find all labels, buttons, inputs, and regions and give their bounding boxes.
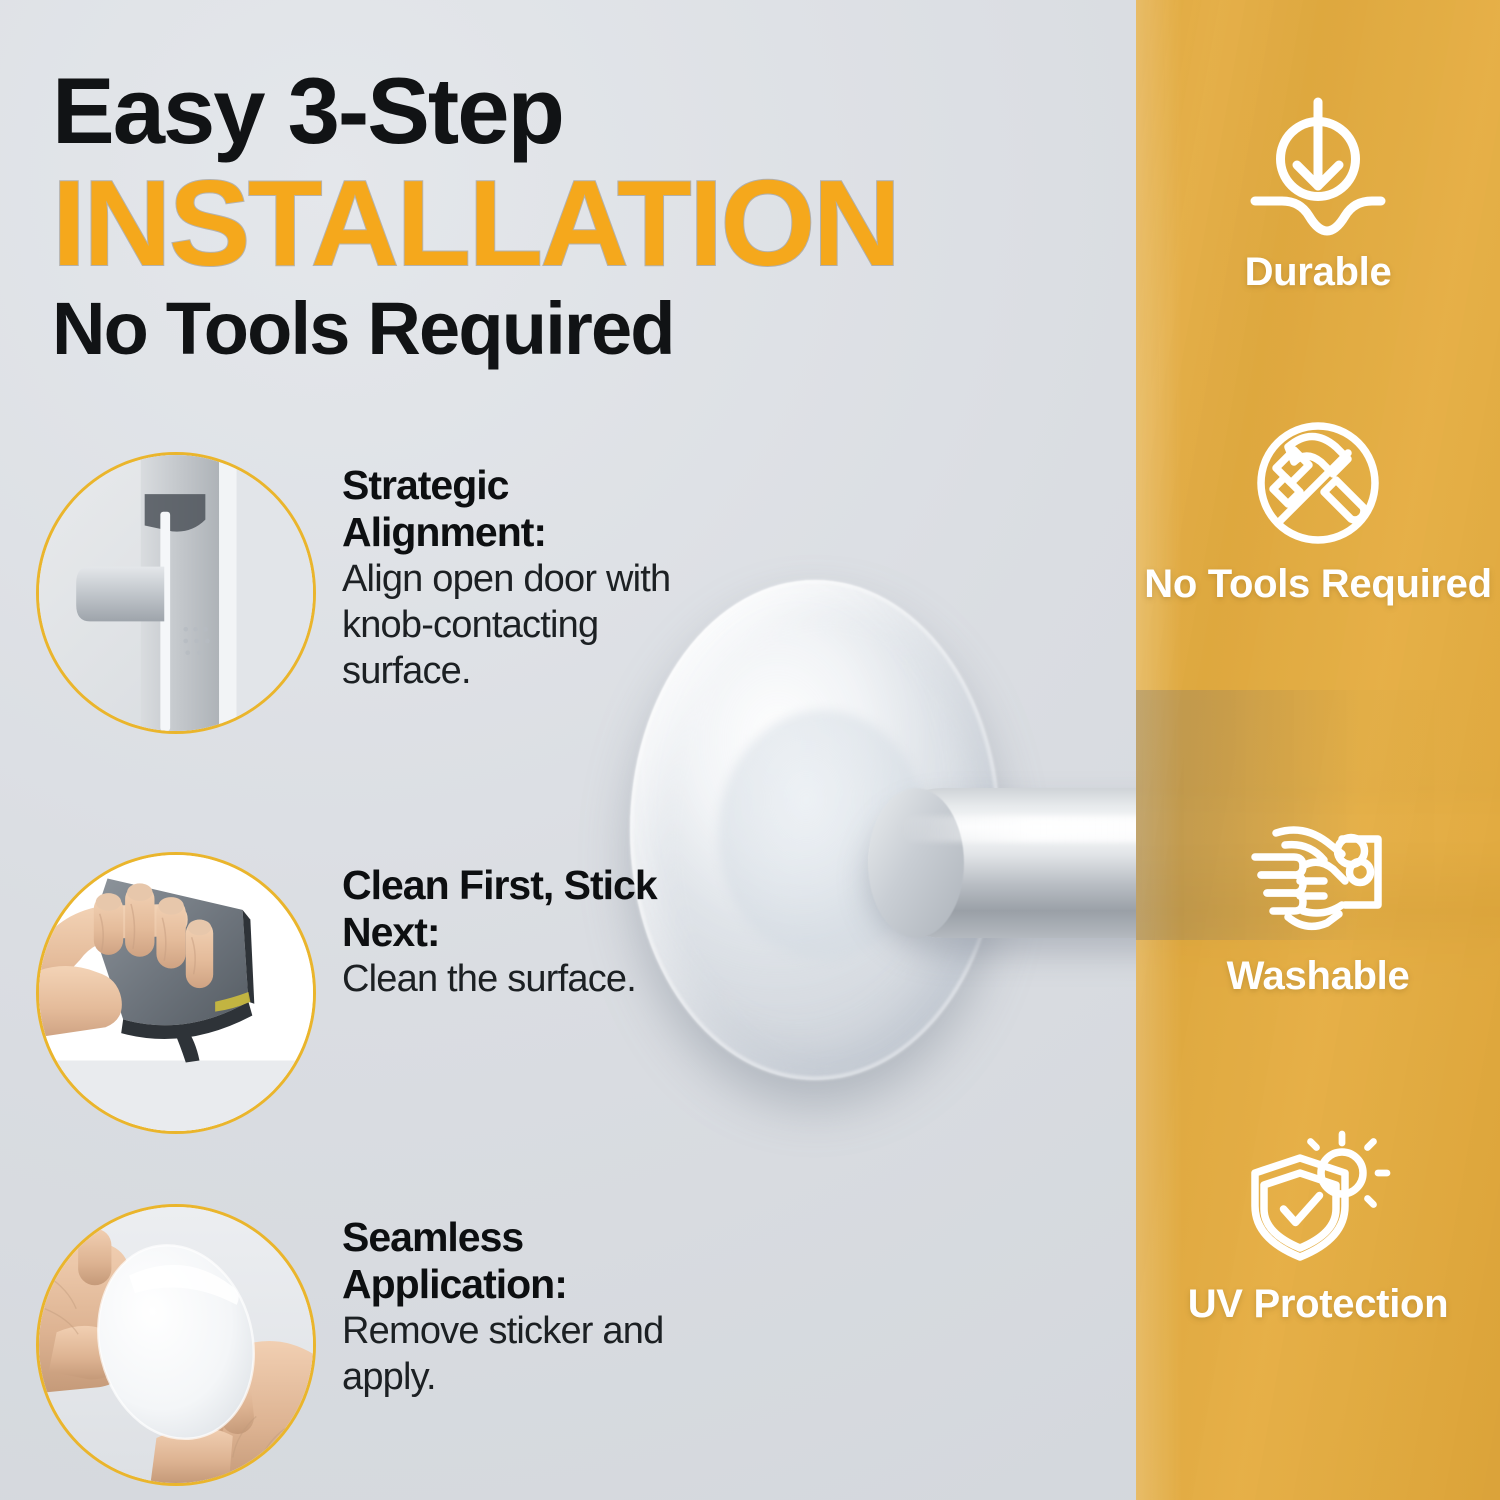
step-2-thumbnail	[36, 852, 316, 1134]
feature-benefits-panel: Durable No Tools Required	[1136, 0, 1500, 1500]
infographic-canvas: Easy 3-Step INSTALLATION No Tools Requir…	[0, 0, 1500, 1500]
feature-no-tools-label: No Tools Required	[1144, 562, 1492, 606]
install-step-2: Clean First, Stick Next: Clean the surfa…	[36, 852, 716, 1134]
feature-durable: Durable	[1136, 96, 1500, 294]
step-1-title: Strategic Alignment:	[342, 462, 702, 555]
feature-uv-protection-label: UV Protection	[1188, 1282, 1449, 1326]
shield-check-sun-icon	[1243, 1128, 1393, 1278]
step-3-thumbnail	[36, 1204, 316, 1486]
step-1-text: Strategic Alignment: Align open door wit…	[342, 452, 702, 734]
door-handle-end-cap	[868, 788, 964, 938]
headline-line-3: No Tools Required	[52, 290, 1092, 368]
door-handle-alignment-photo	[39, 455, 313, 731]
install-step-1: Strategic Alignment: Align open door wit…	[36, 452, 716, 734]
feature-no-tools: No Tools Required	[1136, 408, 1500, 606]
headline-line-2: INSTALLATION	[52, 162, 1092, 284]
arrow-down-into-surface-icon	[1243, 96, 1393, 246]
step-2-text: Clean First, Stick Next: Clean the surfa…	[342, 852, 702, 1134]
headline-line-1: Easy 3-Step	[52, 62, 1092, 160]
hands-peeling-sticker-from-bumper-photo	[39, 1207, 313, 1483]
step-3-title: Seamless Application:	[342, 1214, 702, 1307]
feature-uv-protection: UV Protection	[1136, 1128, 1500, 1326]
step-2-body: Clean the surface.	[342, 957, 702, 1003]
step-3-text: Seamless Application: Remove sticker and…	[342, 1204, 702, 1486]
install-step-3: Seamless Application: Remove sticker and…	[36, 1204, 716, 1486]
no-hammer-prohibited-icon	[1243, 408, 1393, 558]
step-1-thumbnail	[36, 452, 316, 734]
step-1-body: Align open door with knob-contacting sur…	[342, 557, 702, 694]
hand-wiping-microfiber-cloth-photo	[39, 855, 313, 1131]
feature-washable: Washable	[1136, 800, 1500, 998]
hands-washing-icon	[1243, 800, 1393, 950]
step-2-title: Clean First, Stick Next:	[342, 862, 702, 955]
feature-washable-label: Washable	[1227, 954, 1410, 998]
page-title: Easy 3-Step INSTALLATION No Tools Requir…	[52, 62, 1092, 368]
feature-durable-label: Durable	[1245, 250, 1392, 294]
step-3-body: Remove sticker and apply.	[342, 1309, 702, 1400]
